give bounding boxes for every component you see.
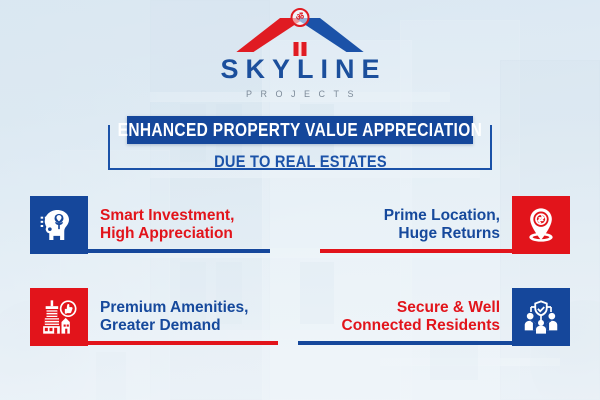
house-roof-logo: ॐ (225, 8, 375, 58)
headline-line-2: DUE TO REAL ESTATES (203, 152, 396, 172)
feature-label: Secure & Well Connected Residents (342, 299, 500, 336)
feature-item-smart-investment[interactable]: Smart Investment, High Appreciation (30, 196, 234, 254)
brand-name: SKYLINE (0, 56, 600, 83)
brand-tagline: PROJECTS (0, 89, 600, 99)
headline-subline: DUE TO REAL ESTATES (0, 152, 600, 172)
feature-item-premium-amenities[interactable]: Premium Amenities, Greater Demand (30, 288, 248, 346)
feature-label: Prime Location, Huge Returns (384, 207, 500, 244)
feature-item-secure-residents[interactable]: Secure & Well Connected Residents (342, 288, 570, 346)
chimney-icon (294, 42, 307, 56)
feature-row: Premium Amenities, Greater Demand (0, 284, 600, 376)
om-emblem-glyph: ॐ (296, 13, 304, 22)
location-pin-refresh-icon (512, 196, 570, 254)
head-idea-growth-icon (30, 196, 88, 254)
real-estate-promo-poster: ॐ SKYLINE PROJECTS ENHANCED PROPERTY VAL… (0, 0, 600, 400)
headline-banner: ENHANCED PROPERTY VALUE APPRECIATION DUE… (0, 116, 600, 172)
headline-line-1: ENHANCED PROPERTY VALUE APPRECIATION (118, 120, 482, 141)
feature-row: Smart Investment, High Appreciation Pri (0, 192, 600, 284)
feature-item-prime-location[interactable]: Prime Location, Huge Returns (384, 196, 570, 254)
shield-check-people-icon (512, 288, 570, 346)
feature-label: Premium Amenities, Greater Demand (100, 299, 248, 336)
buildings-thumbs-up-icon (30, 288, 88, 346)
brand-logo: ॐ SKYLINE PROJECTS (0, 8, 600, 99)
om-emblem-icon: ॐ (291, 8, 310, 27)
feature-label: Smart Investment, High Appreciation (100, 207, 234, 244)
headline-band: ENHANCED PROPERTY VALUE APPRECIATION (127, 116, 473, 144)
feature-list: Smart Investment, High Appreciation Pri (0, 192, 600, 376)
